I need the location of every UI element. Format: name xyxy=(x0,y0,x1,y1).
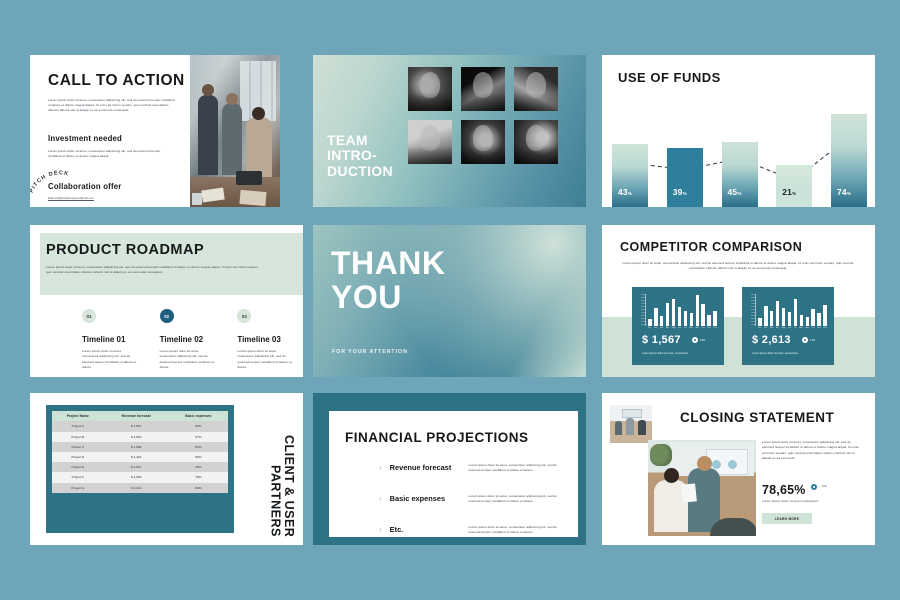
intro-text: Lorem ipsum dolor sit amet, consectetur … xyxy=(46,265,261,276)
table-header-2: Revenue forecast xyxy=(104,411,169,421)
funds-bar-2: 39% xyxy=(667,148,703,207)
monthly-bar-chart-1: JanFebMarAprMayJunJulAugSepOctNovDec xyxy=(641,294,717,332)
month-label-10: Oct xyxy=(702,327,705,332)
title-line-2: INTRO- xyxy=(327,148,393,163)
vertical-title: PARTNERS CLIENT & USER xyxy=(269,401,295,537)
table-cell-r2-c2: $ 2,852 xyxy=(104,432,169,442)
table-cell-r6-c3: 78% xyxy=(169,472,228,482)
projection-label-1: Revenue forecast xyxy=(390,463,461,472)
bars xyxy=(758,294,827,326)
month-bar-10 xyxy=(701,304,705,326)
month-bar-6 xyxy=(788,312,792,326)
table-cell-r4-c2: $ 1,424 xyxy=(104,452,169,462)
thank-line-2: YOU xyxy=(331,281,445,315)
month-bar-1 xyxy=(648,319,652,326)
funds-bar-4: 21% xyxy=(776,165,812,207)
card-percent-1: 13% xyxy=(700,339,705,342)
table-cell-r1-c3: 89% xyxy=(169,421,228,431)
month-label-9: Sep xyxy=(805,327,808,332)
page-title: FINANCIAL PROJECTIONS xyxy=(345,431,529,445)
card-amount-1: $ 1,567 xyxy=(642,334,681,346)
slide-call-to-action[interactable]: CALL TO ACTION Lorem ipsum dolor sit ame… xyxy=(30,55,280,207)
team-portrait-3 xyxy=(514,67,558,111)
timeline-columns: 01Timeline 01Lorem ipsum dolor sit amet,… xyxy=(82,309,293,371)
month-bar-6 xyxy=(678,307,682,326)
timeline-body-1: Lorem ipsum dolor sit amet, consectetur … xyxy=(82,349,138,371)
slide-financial-projections[interactable]: FINANCIAL PROJECTIONS ›Revenue forecastL… xyxy=(313,393,586,545)
page-title: USE OF FUNDS xyxy=(618,71,721,84)
timeline-body-2: Lorem ipsum dolor sit amet, consectetur … xyxy=(160,349,216,371)
slide-partners-table[interactable]: Project NameRevenue forecastBasic expens… xyxy=(30,393,303,545)
table-body: Project A$ 1,56789%Project B$ 2,85267%Pr… xyxy=(52,421,228,492)
month-bar-7 xyxy=(794,299,798,327)
inner-panel: FINANCIAL PROJECTIONS ›Revenue forecastL… xyxy=(329,411,578,537)
month-label-8: Aug xyxy=(689,327,692,332)
card-percent-block-1: 13% xyxy=(692,337,705,343)
project-table: Project NameRevenue forecastBasic expens… xyxy=(52,411,228,493)
table-row[interactable]: Project E$ 2,51245% xyxy=(52,462,228,472)
month-label-1: Jan xyxy=(648,327,651,332)
learn-more-button[interactable]: LEARN MORE xyxy=(762,513,812,524)
table-row[interactable]: Project A$ 1,56789% xyxy=(52,421,228,431)
timeline-column-3[interactable]: 03Timeline 03Lorem ipsum dolor sit amet,… xyxy=(237,309,293,371)
month-label-4: Apr xyxy=(776,327,779,332)
page-title: TEAM INTRO- DUCTION xyxy=(327,133,393,179)
investment-body: Lorem ipsum dolor sit amet, consectetur … xyxy=(48,149,168,160)
month-label-4: Apr xyxy=(666,327,669,332)
page-title: COMPETITOR COMPARISON xyxy=(620,241,802,254)
bars xyxy=(648,294,717,326)
funds-bar-3: 45% xyxy=(722,142,758,207)
month-bar-3 xyxy=(770,311,774,326)
month-bar-1 xyxy=(758,318,762,326)
stat-caption: Lorem ipsum dolor sit amet consectetur. xyxy=(762,499,862,504)
page-title: PRODUCT ROADMAP xyxy=(46,243,204,258)
stat-percent: 13% xyxy=(822,485,827,488)
intro-text: Lorem ipsum dolor sit amet, consectetur … xyxy=(618,261,858,272)
percent-dot-icon xyxy=(692,337,698,343)
table-cell-r4-c1: Project D xyxy=(52,452,104,462)
slide-use-of-funds[interactable]: USE OF FUNDS 43%39%45%21%74% xyxy=(602,55,875,207)
comparison-cards: JanFebMarAprMayJunJulAugSepOctNovDec$ 1,… xyxy=(632,287,834,365)
team-portrait-5 xyxy=(461,120,505,164)
timeline-name-1: Timeline 01 xyxy=(82,335,138,344)
funds-bar-5: 74% xyxy=(831,114,867,207)
month-bar-12 xyxy=(713,311,717,326)
month-bar-2 xyxy=(654,308,658,326)
card-caption-1: Lorem ipsum dolor sit amet, consectetur xyxy=(642,352,688,355)
svg-text:PITCH DECK: PITCH DECK xyxy=(30,170,70,194)
funds-bar-label-4: 21% xyxy=(782,187,796,197)
timeline-number-3: 03 xyxy=(237,309,251,323)
month-bar-7 xyxy=(684,311,688,326)
intro-text: Lorem ipsum dolor sit amet, consectetur … xyxy=(48,98,178,114)
table-cell-r3-c3: 81% xyxy=(169,442,228,452)
office-team-meeting-photo xyxy=(190,55,280,207)
table-row[interactable]: Project B$ 2,85267% xyxy=(52,432,228,442)
table-header-3: Basic expenses xyxy=(169,411,228,421)
month-label-5: May xyxy=(782,327,786,332)
timeline-number-2: 02 xyxy=(160,309,174,323)
table-cell-r4-c3: 56% xyxy=(169,452,228,462)
table-cell-r7-c1: Project G xyxy=(52,483,104,493)
month-bar-11 xyxy=(707,315,711,326)
month-label-11: Nov xyxy=(707,327,710,332)
page-title: CLOSING STATEMENT xyxy=(680,411,834,425)
table-cell-r7-c3: 84% xyxy=(169,483,228,493)
projection-label-3: Etc. xyxy=(390,525,461,534)
table-row[interactable]: Project G$ 2,41284% xyxy=(52,483,228,493)
team-photo-grid xyxy=(408,67,558,164)
pitch-deck-badge: PITCH DECK xyxy=(30,167,94,207)
card-amount-2: $ 2,613 xyxy=(752,334,791,346)
table-cell-r5-c3: 45% xyxy=(169,462,228,472)
table-row[interactable]: Project D$ 1,42456% xyxy=(52,452,228,462)
month-bar-10 xyxy=(811,309,815,326)
month-label-5: May xyxy=(672,327,676,332)
chevron-right-icon: › xyxy=(379,526,382,534)
table-row[interactable]: Project C$ 1,98481% xyxy=(52,442,228,452)
table-cell-r1-c2: $ 1,567 xyxy=(104,421,169,431)
office-workspace-thumbnail xyxy=(610,405,652,443)
funds-bar-label-1: 43% xyxy=(618,187,632,197)
slide-product-roadmap[interactable]: PRODUCT ROADMAP Lorem ipsum dolor sit am… xyxy=(30,225,303,377)
slide-team-introduction[interactable]: TEAM INTRO- DUCTION xyxy=(313,55,586,207)
month-bar-4 xyxy=(776,301,780,326)
funds-bar-label-5: 74% xyxy=(837,187,851,197)
month-label-3: Mar xyxy=(660,327,663,332)
chevron-right-icon: › xyxy=(379,495,382,503)
timeline-column-2[interactable]: 02Timeline 02Lorem ipsum dolor sit amet,… xyxy=(160,309,216,371)
month-bar-4 xyxy=(666,303,670,326)
slide-thank-you[interactable]: THANK YOU FOR YOUR ATTENTION xyxy=(313,225,586,377)
stat-dot-icon xyxy=(811,484,817,490)
table-cell-r6-c2: $ 1,983 xyxy=(104,472,169,482)
table-header-row: Project NameRevenue forecastBasic expens… xyxy=(52,411,228,421)
month-label-12: Dec xyxy=(824,327,827,332)
monthly-bar-chart-2: JanFebMarAprMayJunJulAugSepOctNovDec xyxy=(751,294,827,332)
table-cell-r5-c2: $ 2,512 xyxy=(104,462,169,472)
month-bar-2 xyxy=(764,306,768,326)
projection-body-1: Lorem ipsum dolor sit amet, consectetur … xyxy=(468,463,568,474)
month-label-6: Jun xyxy=(788,327,791,332)
month-label-10: Oct xyxy=(812,327,815,332)
y-axis xyxy=(641,294,646,326)
team-portrait-1 xyxy=(408,67,452,111)
heading-investment-needed: Investment needed xyxy=(48,134,188,143)
table-cell-r6-c1: Project F xyxy=(52,472,104,482)
table-row[interactable]: Project F$ 1,98378% xyxy=(52,472,228,482)
percent-dot-icon xyxy=(802,337,808,343)
team-portrait-6 xyxy=(514,120,558,164)
title-line-1: TEAM xyxy=(327,133,393,148)
thank-line-1: THANK xyxy=(331,247,445,281)
table-cell-r5-c1: Project E xyxy=(52,462,104,472)
team-portrait-2 xyxy=(461,67,505,111)
use-of-funds-bar-chart: 43%39%45%21%74% xyxy=(612,107,867,207)
table-cell-r7-c2: $ 2,412 xyxy=(104,483,169,493)
projection-body-2: Lorem ipsum dolor sit amet, consectetur … xyxy=(468,494,568,505)
page-title: CALL TO ACTION xyxy=(48,73,188,89)
x-tick-labels: JanFebMarAprMayJunJulAugSepOctNovDec xyxy=(648,327,717,332)
month-bar-12 xyxy=(823,305,827,326)
month-label-7: Jul xyxy=(684,327,686,332)
table-frame: Project NameRevenue forecastBasic expens… xyxy=(46,405,234,533)
table-cell-r1-c1: Project A xyxy=(52,421,104,431)
timeline-column-1[interactable]: 01Timeline 01Lorem ipsum dolor sit amet,… xyxy=(82,309,138,371)
month-bar-8 xyxy=(690,313,694,326)
card-percent-2: 17% xyxy=(810,339,815,342)
stat-block: 78,65% 13% xyxy=(762,483,827,497)
comparison-card-1[interactable]: JanFebMarAprMayJunJulAugSepOctNovDec$ 1,… xyxy=(632,287,724,365)
month-bar-3 xyxy=(660,316,664,326)
month-bar-9 xyxy=(696,295,700,326)
funds-bar-label-3: 45% xyxy=(728,187,742,197)
badge-label: PITCH DECK xyxy=(30,170,70,194)
team-portrait-4 xyxy=(408,120,452,164)
month-label-3: Mar xyxy=(770,327,773,332)
slide-closing-statement[interactable]: CLOSING STATEMENT Lorem ipsum dolor sit … xyxy=(602,393,875,545)
slide-competitor-comparison[interactable]: COMPETITOR COMPARISON Lorem ipsum dolor … xyxy=(602,225,875,377)
month-label-1: Jan xyxy=(758,327,761,332)
month-bar-8 xyxy=(800,315,804,326)
y-axis xyxy=(751,294,756,326)
table-cell-r3-c1: Project C xyxy=(52,442,104,452)
table-header-1: Project Name xyxy=(52,411,104,421)
funds-bar-label-2: 39% xyxy=(673,187,687,197)
timeline-name-3: Timeline 03 xyxy=(237,335,293,344)
subtitle: FOR YOUR ATTENTION xyxy=(332,349,408,355)
month-bar-11 xyxy=(817,313,821,326)
month-label-12: Dec xyxy=(714,327,717,332)
page-title: THANK YOU xyxy=(331,247,445,314)
comparison-card-2[interactable]: JanFebMarAprMayJunJulAugSepOctNovDec$ 2,… xyxy=(742,287,834,365)
table-cell-r2-c1: Project B xyxy=(52,432,104,442)
month-label-7: Jul xyxy=(794,327,796,332)
projection-label-2: Basic expenses xyxy=(390,494,461,503)
vertical-line-2: CLIENT & USER xyxy=(283,435,296,537)
month-label-11: Nov xyxy=(817,327,820,332)
card-percent-block-2: 17% xyxy=(802,337,815,343)
table-cell-r3-c2: $ 1,984 xyxy=(104,442,169,452)
title-line-3: DUCTION xyxy=(327,164,393,179)
projection-row-1[interactable]: ›Revenue forecastLorem ipsum dolor sit a… xyxy=(379,463,568,474)
card-caption-2: Lorem ipsum dolor sit amet, consectetur xyxy=(752,352,798,355)
month-label-2: Feb xyxy=(764,327,767,332)
month-label-9: Sep xyxy=(695,327,698,332)
month-label-8: Aug xyxy=(799,327,802,332)
month-label-6: Jun xyxy=(678,327,681,332)
timeline-body-3: Lorem ipsum dolor sit amet, consectetur … xyxy=(237,349,293,371)
month-bar-9 xyxy=(806,317,810,326)
table-cell-r2-c3: 67% xyxy=(169,432,228,442)
team-presentation-photo xyxy=(648,440,756,536)
month-label-2: Feb xyxy=(654,327,657,332)
chevron-right-icon: › xyxy=(379,464,382,472)
projection-row-3[interactable]: ›Etc.Lorem ipsum dolor sit amet, consect… xyxy=(379,525,568,536)
projection-body-3: Lorem ipsum dolor sit amet, consectetur … xyxy=(468,525,568,536)
month-bar-5 xyxy=(782,308,786,326)
vertical-line-1: PARTNERS xyxy=(269,465,282,537)
pitch-deck-preview-grid: CALL TO ACTION Lorem ipsum dolor sit ame… xyxy=(0,0,900,600)
timeline-number-1: 01 xyxy=(82,309,96,323)
funds-bar-1: 43% xyxy=(612,144,648,207)
projection-rows: ›Revenue forecastLorem ipsum dolor sit a… xyxy=(379,463,568,545)
stat-value: 78,65% xyxy=(762,483,806,497)
x-tick-labels: JanFebMarAprMayJunJulAugSepOctNovDec xyxy=(758,327,827,332)
month-bar-5 xyxy=(672,299,676,326)
timeline-name-2: Timeline 02 xyxy=(160,335,216,344)
body-text: Lorem ipsum dolor sit amet, consectetur … xyxy=(762,440,862,462)
projection-row-2[interactable]: ›Basic expensesLorem ipsum dolor sit ame… xyxy=(379,494,568,505)
